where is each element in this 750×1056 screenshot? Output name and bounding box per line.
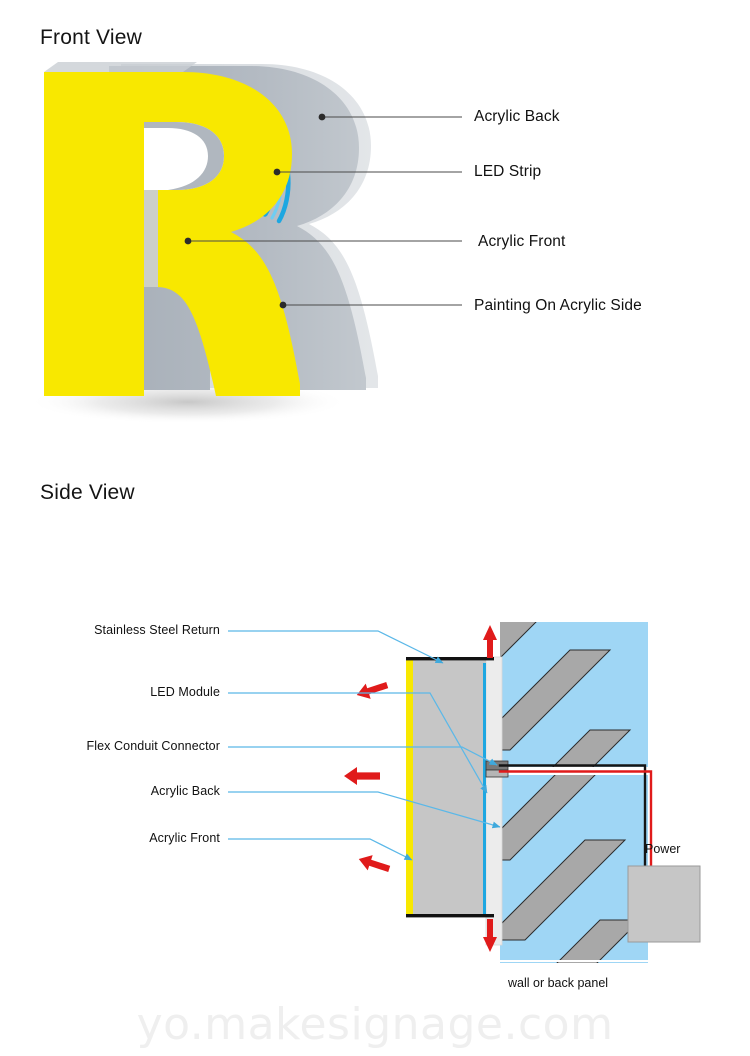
power-label: Power bbox=[645, 842, 680, 856]
callout-label-flex-conduit-connector: Flex Conduit Connector bbox=[0, 739, 220, 753]
callout-label-acrylic-front: Acrylic Front bbox=[478, 233, 565, 251]
wall-bottom-edge bbox=[500, 960, 648, 962]
diagram-page: Front View bbox=[0, 0, 750, 1056]
callout-label-stainless-steel-return: Stainless Steel Return bbox=[0, 623, 220, 637]
wall-or-back-panel-label: wall or back panel bbox=[508, 976, 608, 990]
callout-label-led-module: LED Module bbox=[0, 685, 220, 699]
arrow-up-icon bbox=[483, 625, 497, 658]
callout-label-acrylic-back-side: Acrylic Back bbox=[0, 784, 220, 798]
power-supply-box bbox=[628, 866, 700, 942]
sign-body-return bbox=[412, 659, 486, 917]
callout-label-acrylic-back: Acrylic Back bbox=[474, 108, 560, 126]
flex-conduit-connector bbox=[486, 761, 508, 777]
letter-left-stem-inner-shade bbox=[144, 190, 158, 287]
letter-top-bevel bbox=[44, 62, 197, 72]
stainless-steel-return-bottom bbox=[406, 914, 494, 917]
site-watermark: yo.makesignage.com bbox=[0, 999, 750, 1050]
callout-label-acrylic-front-side: Acrylic Front bbox=[0, 831, 220, 845]
stainless-steel-return-top bbox=[406, 657, 494, 660]
letter-r-3d bbox=[44, 62, 378, 396]
arrow-left-icon bbox=[344, 767, 380, 785]
callout-label-painting-on-acrylic-side: Painting On Acrylic Side bbox=[474, 297, 642, 315]
diagram-canvas bbox=[0, 0, 750, 1056]
arrow-left-down-icon bbox=[356, 851, 391, 876]
callout-label-led-strip: LED Strip bbox=[474, 163, 541, 181]
side-view-assembly bbox=[228, 588, 700, 1056]
acrylic-back-panel bbox=[486, 657, 502, 945]
arrow-left-up-icon bbox=[354, 677, 389, 702]
acrylic-front-strip bbox=[406, 659, 413, 917]
side-view-heading: Side View bbox=[40, 481, 135, 505]
